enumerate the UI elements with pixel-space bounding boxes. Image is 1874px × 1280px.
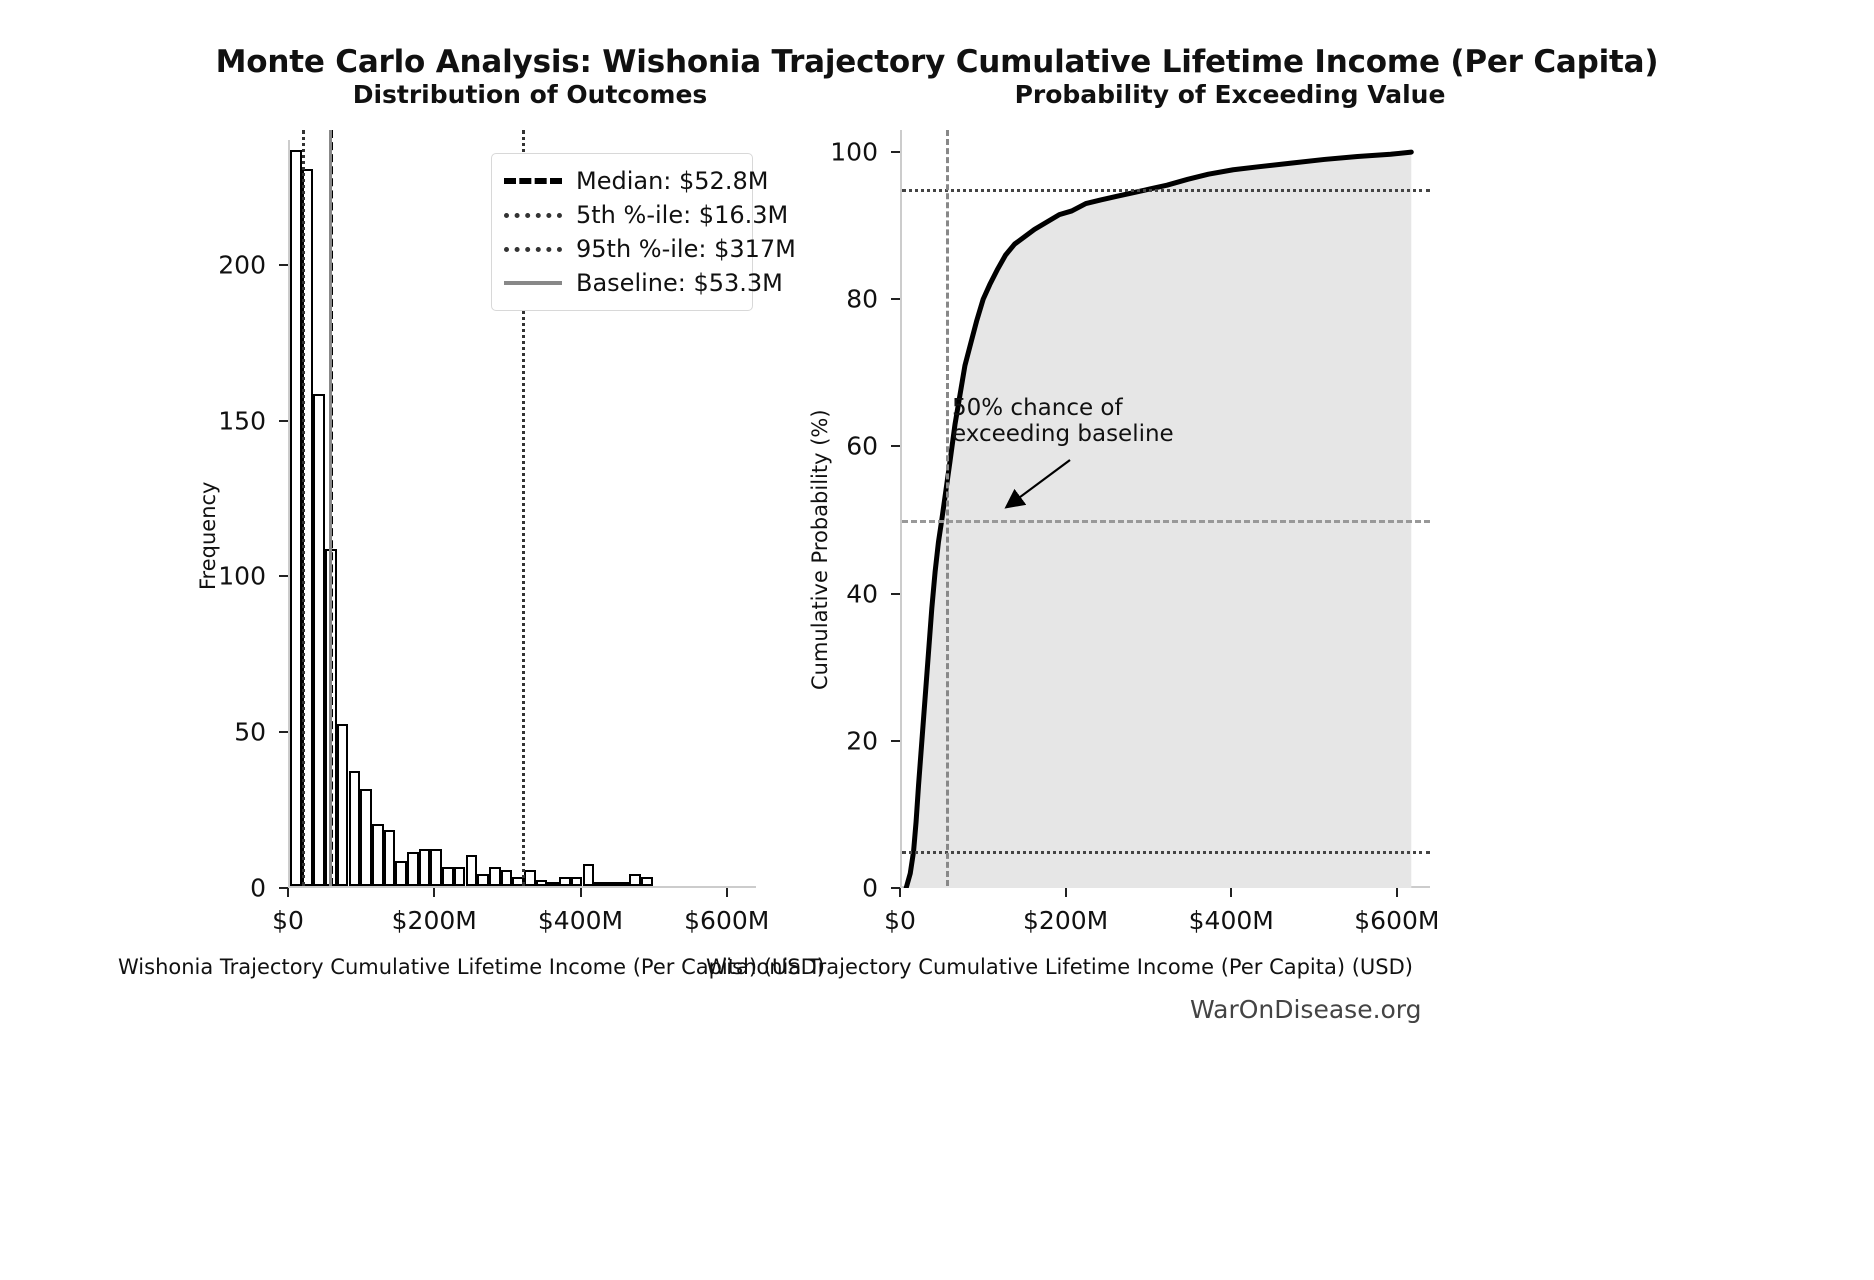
- histogram-y-tick-mark: [279, 575, 288, 577]
- marker-line-5th-percentile: [302, 130, 305, 886]
- cdf-y-tick-label: 20: [846, 726, 878, 755]
- histogram-panel: 050100150200 $0$200M$400M$600M Frequency…: [0, 0, 900, 1000]
- cdf-y-axis-title: Cumulative Probability (%): [808, 409, 832, 690]
- dotted-line-icon: [504, 213, 562, 218]
- footer-attribution: WarOnDisease.org: [1190, 995, 1422, 1024]
- legend-label-baseline: Baseline: $53.3M: [576, 269, 783, 297]
- histogram-legend: Median: $52.8M 5th %-ile: $16.3M 95th %-…: [491, 153, 753, 311]
- legend-item-baseline: Baseline: $53.3M: [504, 266, 738, 300]
- cdf-y-tick-label: 80: [846, 285, 878, 314]
- figure-canvas: Monte Carlo Analysis: Wishonia Trajector…: [0, 0, 1874, 1280]
- histogram-y-tick-mark: [279, 731, 288, 733]
- histogram-x-tick-label: $400M: [538, 906, 623, 935]
- histogram-y-tick-mark: [279, 420, 288, 422]
- cdf-plot-area: [900, 130, 1430, 888]
- cdf-y-tick-mark: [891, 445, 900, 447]
- histogram-y-tick-mark: [279, 264, 288, 266]
- legend-item-median: Median: $52.8M: [504, 164, 738, 198]
- legend-item-p5: 5th %-ile: $16.3M: [504, 198, 738, 232]
- cdf-y-tick-mark: [891, 151, 900, 153]
- cdf-x-tick-mark: [899, 888, 901, 897]
- cdf-y-tick-label: 40: [846, 579, 878, 608]
- dashed-line-icon: [504, 178, 562, 184]
- histogram-x-tick-mark: [580, 888, 582, 897]
- histogram-y-tick-label: 0: [250, 874, 266, 903]
- legend-label-median: Median: $52.8M: [576, 167, 768, 195]
- histogram-x-tick-label: $200M: [392, 906, 477, 935]
- cdf-annotation-line1: 50% chance of: [952, 395, 1174, 421]
- cdf-x-axis-title: Wishonia Trajectory Cumulative Lifetime …: [706, 955, 1413, 979]
- annotation-arrow-icon: [902, 130, 1432, 888]
- cdf-x-tick-label: $0: [884, 906, 916, 935]
- histogram-x-tick-mark: [726, 888, 728, 897]
- cdf-y-tick-mark: [891, 298, 900, 300]
- marker-line-baseline: [329, 130, 332, 886]
- legend-label-p95: 95th %-ile: $317M: [576, 235, 796, 263]
- cdf-x-tick-mark: [1065, 888, 1067, 897]
- cdf-x-tick-label: $600M: [1354, 906, 1439, 935]
- histogram-x-tick-mark: [287, 888, 289, 897]
- cdf-y-tick-label: 60: [846, 432, 878, 461]
- histogram-y-tick-label: 150: [218, 406, 266, 435]
- cdf-y-tick-mark: [891, 740, 900, 742]
- histogram-y-tick-label: 50: [234, 718, 266, 747]
- histogram-y-tick-label: 100: [218, 562, 266, 591]
- legend-item-p95: 95th %-ile: $317M: [504, 232, 738, 266]
- cdf-annotation-line2: exceeding baseline: [952, 421, 1174, 447]
- histogram-x-tick-mark: [433, 888, 435, 897]
- solid-line-icon: [504, 281, 562, 285]
- cdf-x-tick-mark: [1230, 888, 1232, 897]
- cdf-x-tick-label: $200M: [1023, 906, 1108, 935]
- legend-label-p5: 5th %-ile: $16.3M: [576, 201, 788, 229]
- cdf-y-tick-label: 0: [862, 874, 878, 903]
- cdf-annotation: 50% chance of exceeding baseline: [952, 395, 1174, 448]
- histogram-x-tick-label: $600M: [684, 906, 769, 935]
- cdf-y-tick-label: 100: [830, 138, 878, 167]
- histogram-y-axis-title: Frequency: [196, 482, 220, 591]
- dotted-line-icon: [504, 247, 562, 252]
- histogram-y-tick-label: 200: [218, 250, 266, 279]
- cdf-panel: 020406080100 $0$200M$400M$600M Cumulativ…: [830, 0, 1874, 1000]
- cdf-y-tick-mark: [891, 593, 900, 595]
- cdf-x-tick-mark: [1396, 888, 1398, 897]
- cdf-x-tick-label: $400M: [1189, 906, 1274, 935]
- histogram-x-tick-label: $0: [272, 906, 304, 935]
